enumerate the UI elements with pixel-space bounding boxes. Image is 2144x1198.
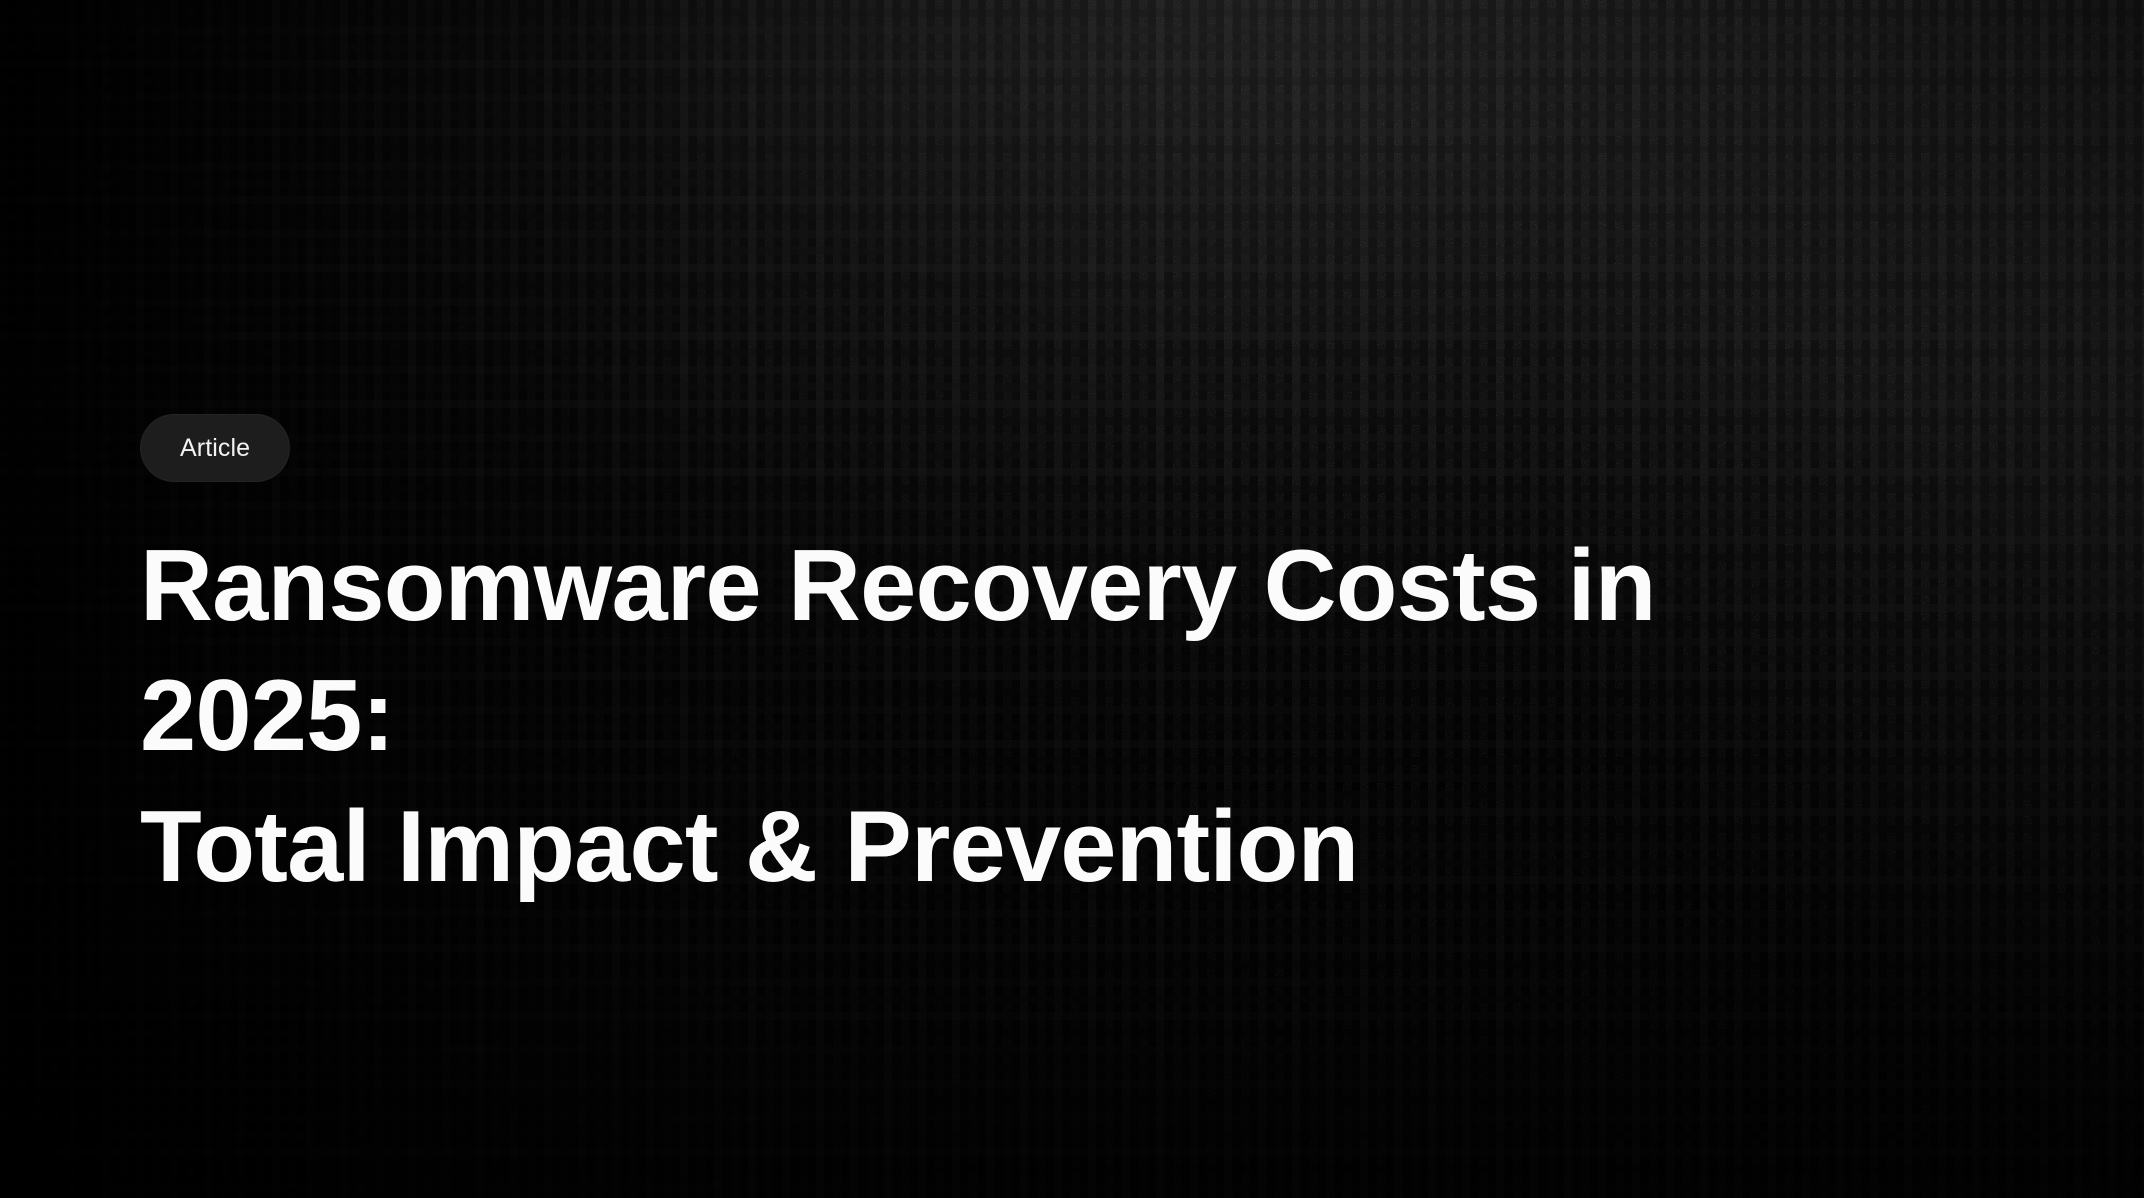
article-hero-banner: Article Ransomware Recovery Costs in 202… — [0, 0, 2144, 1198]
hero-content: Article Ransomware Recovery Costs in 202… — [140, 414, 1960, 912]
category-badge[interactable]: Article — [140, 414, 290, 482]
page-title-line-2: Total Impact & Prevention — [140, 782, 1900, 912]
category-badge-label: Article — [180, 436, 250, 461]
page-title: Ransomware Recovery Costs in 2025: Total… — [140, 521, 1900, 912]
page-title-line-1: Ransomware Recovery Costs in 2025: — [140, 521, 1900, 782]
